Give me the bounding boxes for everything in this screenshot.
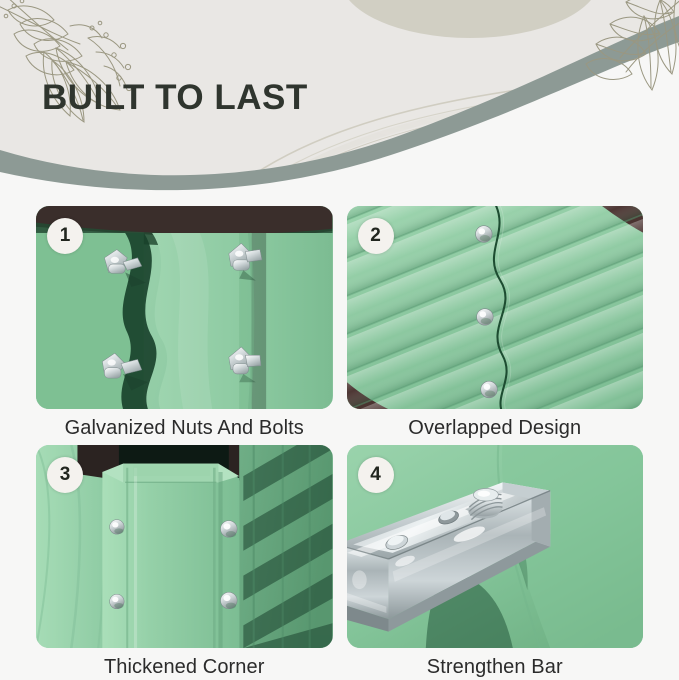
feature-card-4[interactable]: 4 xyxy=(347,445,644,648)
feature-caption-1: Galvanized Nuts And Bolts xyxy=(65,416,304,441)
feature-cell-2: 2 Overlapped Design xyxy=(347,206,644,441)
feature-cell-3: 3 Thickened Corner xyxy=(36,445,333,680)
feature-card-2[interactable]: 2 xyxy=(347,206,644,409)
header-banner: BUILT TO LAST xyxy=(0,0,679,200)
feature-badge-1: 1 xyxy=(47,218,83,254)
feature-badge-2: 2 xyxy=(358,218,394,254)
feature-caption-2: Overlapped Design xyxy=(408,416,581,441)
feature-cell-1: 1 Galvanized Nuts And Bolts xyxy=(36,206,333,441)
feature-caption-4: Strengthen Bar xyxy=(427,655,563,680)
feature-badge-3: 3 xyxy=(47,457,83,493)
feature-badge-4: 4 xyxy=(358,457,394,493)
feature-grid: 1 Galvanized Nuts And Bolts xyxy=(0,200,679,679)
page-title: BUILT TO LAST xyxy=(42,78,308,118)
feature-cell-4: 4 Strengthen Bar xyxy=(347,445,644,680)
feature-caption-3: Thickened Corner xyxy=(104,655,265,680)
feature-card-3[interactable]: 3 xyxy=(36,445,333,648)
feature-card-1[interactable]: 1 xyxy=(36,206,333,409)
